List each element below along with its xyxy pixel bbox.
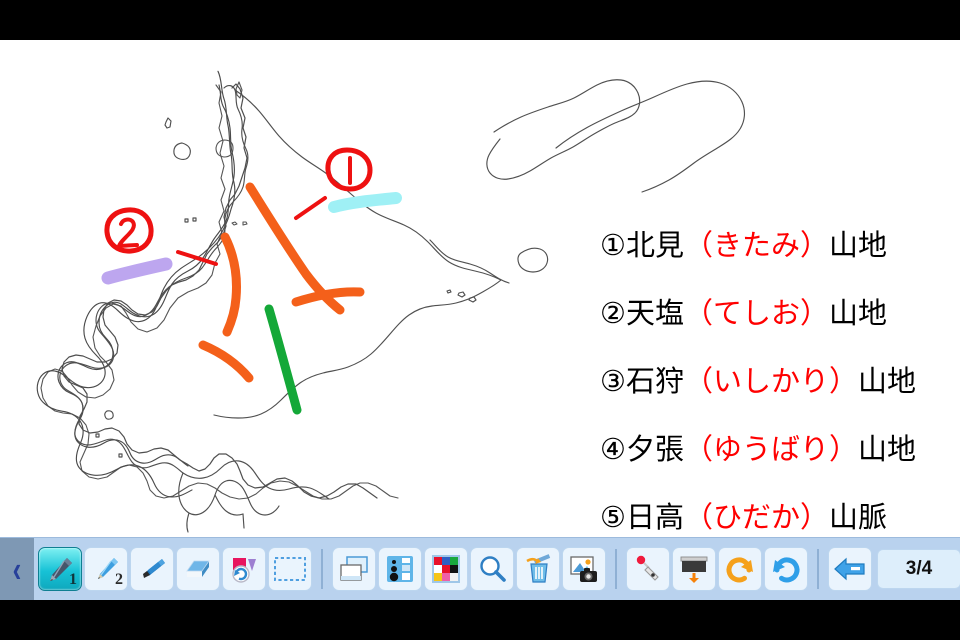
tool-redo[interactable]: [764, 547, 808, 591]
tool-laser-pointer[interactable]: [626, 547, 670, 591]
undo-icon: [724, 553, 756, 585]
marquee-select-icon: [273, 556, 307, 582]
tool-pen-2[interactable]: 2: [84, 547, 128, 591]
legend-kanji: 日高: [626, 504, 684, 533]
legend-suffix: 山地: [858, 368, 916, 397]
tool-select-region[interactable]: [268, 547, 312, 591]
toolbar-group-drawing: 1 2: [34, 547, 316, 591]
app-window: ① 北見 （きたみ） 山地 ② 天塩 （てしお） 山地 ③ 石狩 （いしかり） …: [0, 0, 960, 640]
tool-line-width[interactable]: [378, 547, 422, 591]
tool-screen-capture[interactable]: [562, 547, 606, 591]
legend-kanji: 夕張: [626, 436, 684, 465]
tool-badge: 2: [115, 571, 123, 589]
annotation-green-stroke: [269, 309, 297, 410]
letterbox-top: [0, 0, 960, 40]
legend-item-5: ⑤ 日高 （ひだか） 山脈: [600, 484, 930, 537]
legend-suffix: 山地: [829, 300, 887, 329]
teshio-range-stroke: [225, 237, 237, 332]
color-palette-icon: [431, 554, 461, 584]
legend-item-2: ② 天塩 （てしお） 山地: [600, 280, 930, 348]
legend-item-3: ③ 石狩 （いしかり） 山地: [600, 348, 930, 416]
toolbar-group-navigation: 3/4 ?: [824, 547, 960, 591]
legend-item-1: ① 北見 （きたみ） 山地: [600, 212, 930, 280]
tool-screen-shade[interactable]: [672, 547, 716, 591]
highlight-cyan-map: [334, 198, 396, 207]
letterbox-bottom: [0, 600, 960, 640]
tool-zoom[interactable]: [470, 547, 514, 591]
legend-suffix: 山地: [829, 232, 887, 261]
line-width-icon: [384, 553, 416, 585]
image-camera-icon: [568, 554, 600, 584]
page-indicator: 3/4: [877, 549, 960, 589]
toolbar-separator: [615, 549, 617, 589]
legend-list: ① 北見 （きたみ） 山地 ② 天塩 （てしお） 山地 ③ 石狩 （いしかり） …: [600, 212, 930, 537]
legend-kanji: 石狩: [626, 368, 684, 397]
legend-reading: （いしかり）: [684, 368, 858, 397]
screen-shade-icon: [678, 554, 710, 584]
legend-reading: （ひだか）: [684, 504, 829, 533]
eraser-icon: [182, 553, 214, 585]
tool-undo[interactable]: [718, 547, 762, 591]
tool-highlighter[interactable]: [130, 547, 174, 591]
legend-number: ⑤: [600, 504, 626, 533]
toolbar-separator: [321, 549, 323, 589]
legend-number: ④: [600, 436, 626, 465]
tool-shape-rotate[interactable]: [222, 547, 266, 591]
laser-pointer-icon: [632, 553, 664, 585]
legend-suffix: 山脈: [829, 504, 887, 533]
whiteboard-canvas[interactable]: ① 北見 （きたみ） 山地 ② 天塩 （てしお） 山地 ③ 石狩 （いしかり） …: [0, 40, 960, 537]
leader-line-2: [178, 252, 216, 264]
marker-icon: [136, 553, 168, 585]
toolbar-group-page: [328, 547, 610, 591]
toolbar-group-present: [622, 547, 812, 591]
legend-suffix: 山地: [858, 436, 916, 465]
tool-badge: 1: [69, 571, 77, 589]
legend-number: ③: [600, 368, 626, 397]
tool-pen-1[interactable]: 1: [38, 547, 82, 591]
toolbar: ‹ 1: [0, 537, 960, 600]
chevron-left-icon: ‹: [13, 551, 22, 587]
yubari-range-stroke: [203, 345, 249, 378]
hidaka-range-stroke: [269, 309, 297, 410]
leader-line-1: [296, 198, 325, 218]
highlight-purple-map: [108, 264, 166, 278]
legend-item-4: ④ 夕張 （ゆうばり） 山地: [600, 416, 930, 484]
arrow-left-icon: [833, 555, 867, 583]
tool-color-palette[interactable]: [424, 547, 468, 591]
redo-icon: [770, 553, 802, 585]
trash-icon: [522, 553, 554, 585]
tool-pages[interactable]: [332, 547, 376, 591]
pages-icon: [338, 554, 370, 584]
legend-kanji: 天塩: [626, 300, 684, 329]
magnifier-icon: [477, 554, 507, 584]
page-prev-button[interactable]: [828, 547, 872, 591]
annotation-marker-2: [107, 210, 151, 251]
annotation-marker-1: [328, 150, 370, 189]
legend-reading: （てしお）: [684, 300, 829, 329]
legend-number: ①: [600, 232, 626, 261]
toolbar-collapse-handle[interactable]: ‹: [0, 538, 34, 601]
legend-number: ②: [600, 300, 626, 329]
legend-reading: （ゆうばり）: [684, 436, 858, 465]
tool-eraser[interactable]: [176, 547, 220, 591]
legend-reading: （きたみ）: [684, 232, 829, 261]
tool-delete[interactable]: [516, 547, 560, 591]
annotation-leader-lines: [178, 198, 325, 264]
toolbar-separator: [817, 549, 819, 589]
legend-kanji: 北見: [626, 232, 684, 261]
shapes-rotate-icon: [228, 553, 260, 585]
